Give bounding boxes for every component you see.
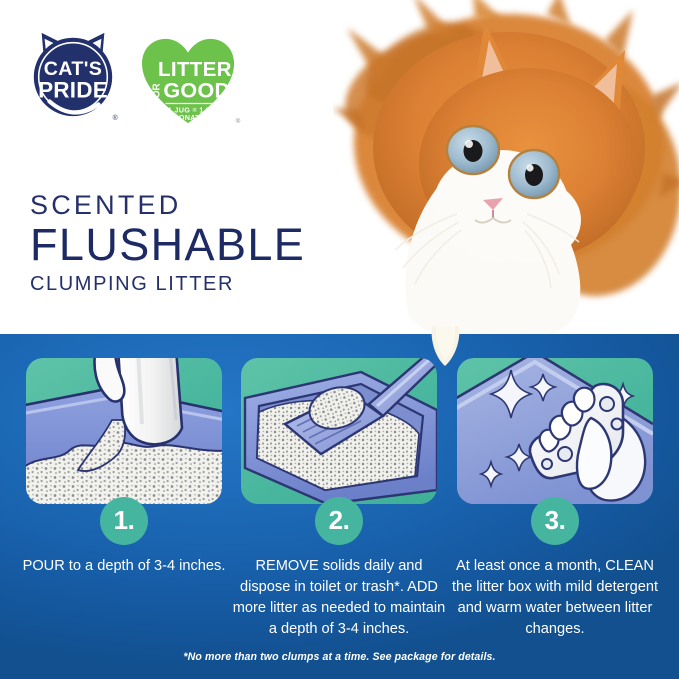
- litter-for-good-line1: LITTER: [158, 58, 232, 81]
- step-1-illustration: [26, 358, 222, 504]
- cats-pride-logo: CAT'S PRIDE ®: [24, 26, 122, 124]
- step-badge-2: 2.: [315, 497, 363, 545]
- headline-eyebrow: SCENTED: [30, 190, 305, 220]
- step-2-illustration: [241, 358, 437, 504]
- step-badge-2-label: 2.: [329, 505, 350, 536]
- litter-for-good-line2: GOOD: [163, 79, 230, 103]
- step-2-text: REMOVE solids daily and dispose in toile…: [231, 556, 447, 640]
- registered-trademark-icon: ®: [236, 117, 241, 125]
- litter-for-good-for: FOR: [152, 83, 163, 104]
- step-3-text: At least once a month, CLEAN the litter …: [447, 556, 663, 640]
- registered-trademark-icon: ®: [113, 114, 118, 122]
- cat-paw: [426, 326, 466, 368]
- cat-photo: [333, 0, 679, 334]
- footnote-text: *No more than two clumps at a time. See …: [0, 651, 679, 663]
- step-badge-3: 3.: [531, 497, 579, 545]
- cats-pride-logo-line2: PRIDE: [38, 78, 108, 103]
- step-3-illustration: [457, 358, 653, 504]
- page-title: SCENTED FLUSHABLE CLUMPING LITTER: [30, 190, 305, 296]
- product-infographic: CAT'S PRIDE ® LITTER FOR GOOD 1 JUG = 1 …: [0, 0, 679, 679]
- instructions-section: 1. 2. 3. POUR to a depth of 3-4 inches. …: [0, 334, 679, 679]
- headline-subhead: CLUMPING LITTER: [30, 272, 305, 296]
- litter-for-good-subtext-line2: DONATED: [173, 113, 210, 122]
- step-badge-3-label: 3.: [545, 505, 566, 536]
- step-badge-1: 1.: [100, 497, 148, 545]
- step-badge-1-label: 1.: [114, 505, 135, 536]
- headline-main: FLUSHABLE: [30, 221, 305, 269]
- litter-for-good-badge: LITTER FOR GOOD 1 JUG = 1 LB DONATED ®: [136, 33, 244, 127]
- step-1-text: POUR to a depth of 3-4 inches.: [16, 556, 232, 577]
